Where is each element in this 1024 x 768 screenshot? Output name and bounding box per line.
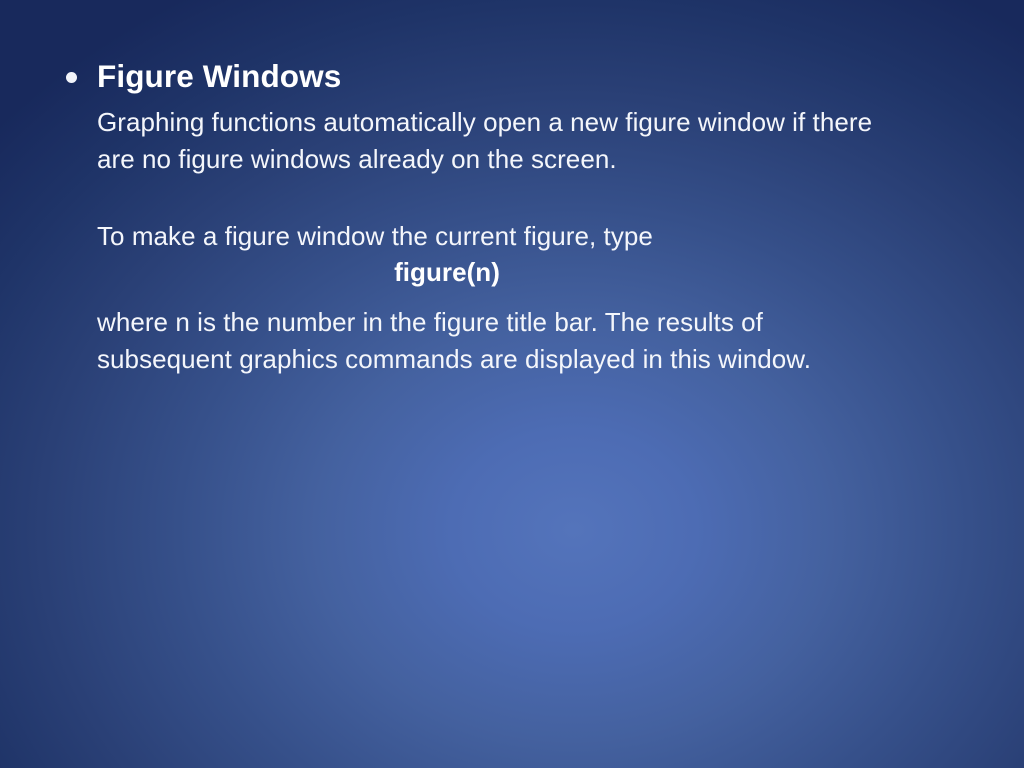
presentation-slide: Figure Windows Graphing functions automa… (0, 0, 1024, 768)
code-snippet-figure-n: figure(n) (97, 254, 809, 291)
slide-content-body: Figure Windows Graphing functions automa… (60, 56, 960, 377)
paragraph-figure-window-autoopen: Graphing functions automatically open a … (97, 104, 915, 177)
bullet-list-item: Figure Windows (60, 56, 960, 96)
slide-heading: Figure Windows (97, 56, 960, 96)
paragraph-make-current-figure: To make a figure window the current figu… (97, 218, 915, 255)
bullet-point-icon (66, 72, 77, 83)
slide-body-text: Graphing functions automatically open a … (60, 104, 927, 377)
paragraph-title-bar-number: where n is the number in the figure titl… (97, 304, 897, 377)
